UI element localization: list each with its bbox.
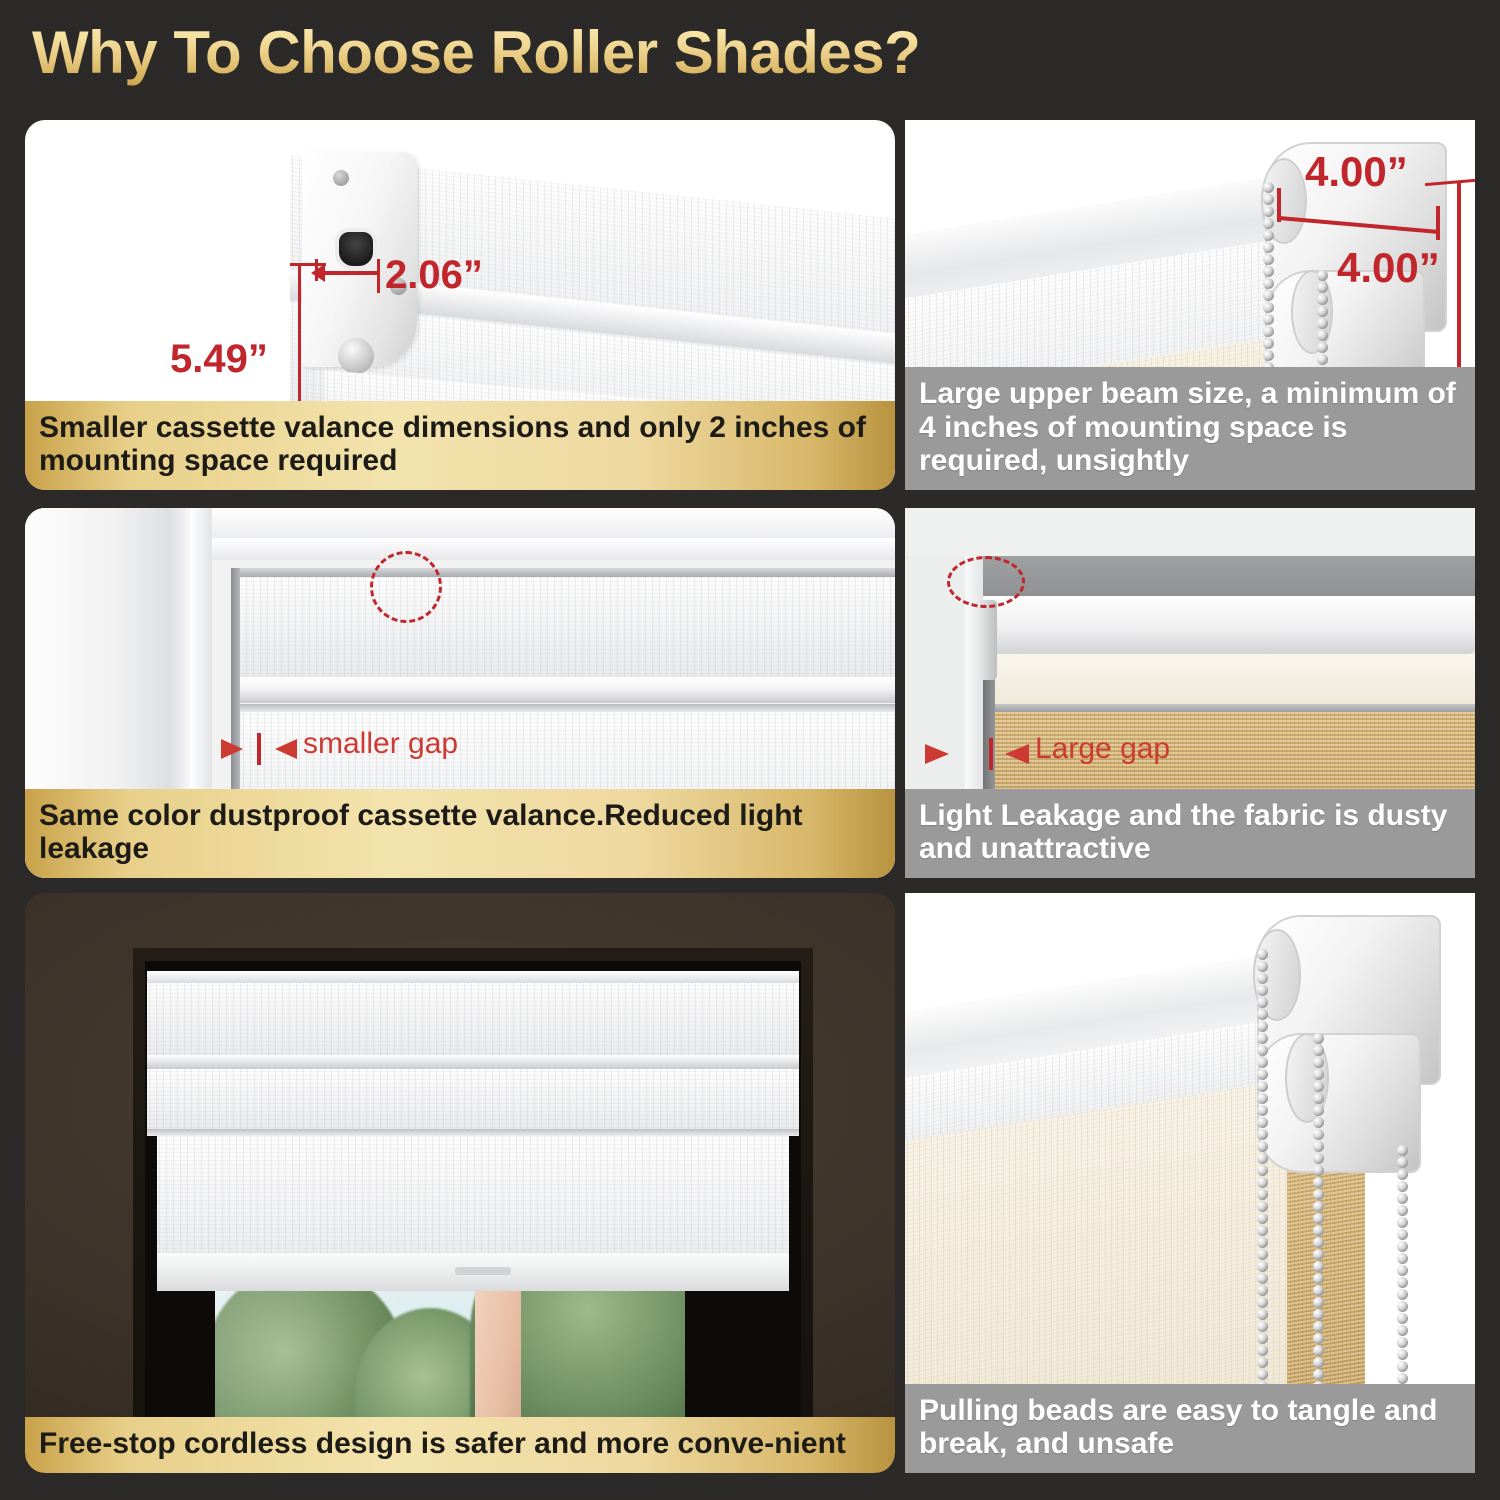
panel-pulling-beads: Pulling beads are easy to tangle and bre… <box>905 893 1475 1473</box>
gap-arrow-right <box>1005 744 1029 764</box>
panel-smaller-cassette: 2.06” 5.49” Smaller cassette valance dim… <box>25 120 895 490</box>
screw-top <box>333 170 349 186</box>
bottom-rail-handle <box>455 1267 511 1275</box>
gap-label: Large gap <box>1035 732 1170 766</box>
headrail-top <box>147 971 799 983</box>
panel-2-caption: Large upper beam size, a minimum of 4 in… <box>905 367 1475 490</box>
dim-w-label: 4.00” <box>1305 148 1408 196</box>
dim-h-line <box>1457 182 1461 374</box>
window-frame-inner-top <box>212 538 895 560</box>
panel-large-upper-beam: 4.00” 4.00” Large upper beam size, a min… <box>905 120 1475 490</box>
dim-width-bar <box>317 271 379 275</box>
gap-arrow-left <box>221 739 243 759</box>
headrail-face <box>147 983 799 1061</box>
panel-6-caption: Pulling beads are easy to tangle and bre… <box>905 1384 1475 1473</box>
gap-mark-line <box>257 733 261 765</box>
panel-1-caption: Smaller cassette valance dimensions and … <box>25 401 895 490</box>
panel-cordless-design: Free-stop cordless design is safer and m… <box>25 893 895 1473</box>
headrail-edge <box>147 1129 799 1136</box>
dim-width-tick-right <box>377 259 380 293</box>
panel-5-caption: Free-stop cordless design is safer and m… <box>25 1417 895 1473</box>
gap-arrow-right <box>275 739 297 759</box>
cream-valance <box>967 654 1475 706</box>
dim-w-tick-l <box>1277 188 1281 222</box>
dim-h-label: 4.00” <box>1337 244 1440 292</box>
highlight-circle <box>947 556 1025 608</box>
panel-light-leakage: Large gap Light Leakage and the fabric i… <box>905 508 1475 878</box>
valance-top-edge <box>237 568 895 577</box>
panel-4-caption: Light Leakage and the fabric is dusty an… <box>905 789 1475 878</box>
dim-width-arrow <box>311 264 325 282</box>
upper-beam <box>967 596 1475 654</box>
gap-mark-line <box>989 738 993 770</box>
wall-top <box>905 508 1475 556</box>
gap-arrow-left <box>925 744 949 764</box>
valance-shadow-line <box>237 704 895 712</box>
highlight-circle <box>370 551 442 623</box>
headrail-lower <box>147 1069 799 1131</box>
valance-face <box>237 577 895 677</box>
clutch-opening <box>335 228 377 270</box>
page-title: Why To Choose Roller Shades? <box>32 18 920 87</box>
panel-dustproof-cassette: smaller gap Same color dustproof cassett… <box>25 508 895 878</box>
valance-shadow <box>967 704 1475 712</box>
headrail-seam <box>147 1055 799 1069</box>
dim-w-tick-r <box>1436 206 1440 240</box>
valance-bottom-lip <box>237 677 895 703</box>
bracket-pin <box>979 600 997 680</box>
mounting-boss <box>338 338 374 374</box>
dim-width-label: 2.06” <box>385 253 483 298</box>
dim-height-label: 5.49” <box>170 337 268 382</box>
panel-3-caption: Same color dustproof cassette valance.Re… <box>25 789 895 878</box>
panel-5-image <box>25 893 895 1473</box>
gap-label: smaller gap <box>303 727 458 761</box>
